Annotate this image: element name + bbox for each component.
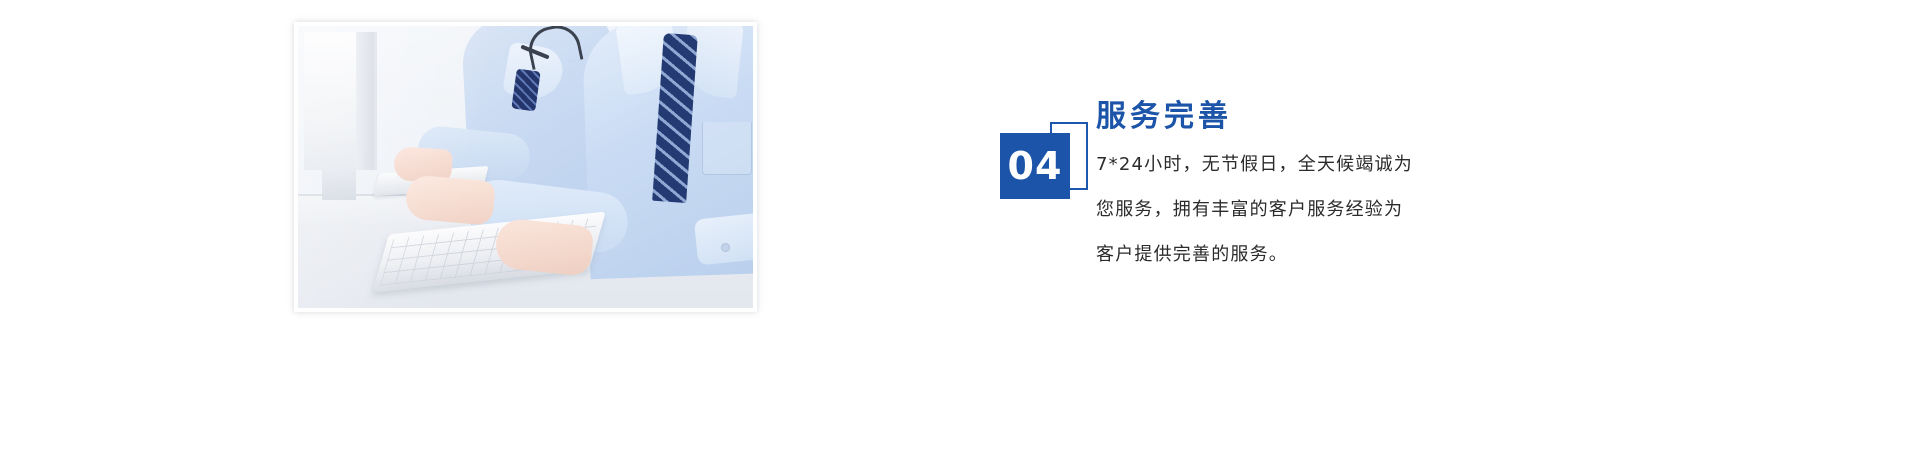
promo-section: 04 服务完善 7*24小时，无节假日，全天候竭诚为 您服务，拥有丰富的客户服务… [0,0,1920,452]
service-photo [294,22,757,312]
badge-number-label: 04 [1000,133,1070,199]
monitor-bezel [356,32,374,170]
shirt-cuff [694,212,753,265]
photo-image [298,26,753,308]
section-body-line-3: 客户提供完善的服务。 [1096,241,1536,268]
section-content: 04 服务完善 7*24小时，无节假日，全天候竭诚为 您服务，拥有丰富的客户服务… [996,100,1556,280]
monitor-stand [322,170,356,200]
section-text: 服务完善 7*24小时，无节假日，全天候竭诚为 您服务，拥有丰富的客户服务经验为… [1096,100,1536,286]
section-body-line-1: 7*24小时，无节假日，全天候竭诚为 [1096,151,1536,178]
section-number-badge: 04 [996,100,1088,192]
agent-foreground-hand-mouse [404,174,496,226]
cuff-button [722,244,729,251]
section-body-line-2: 您服务，拥有丰富的客户服务经验为 [1096,196,1536,223]
section-heading: 服务完善 [1096,100,1536,133]
shirt-pocket [702,122,752,175]
